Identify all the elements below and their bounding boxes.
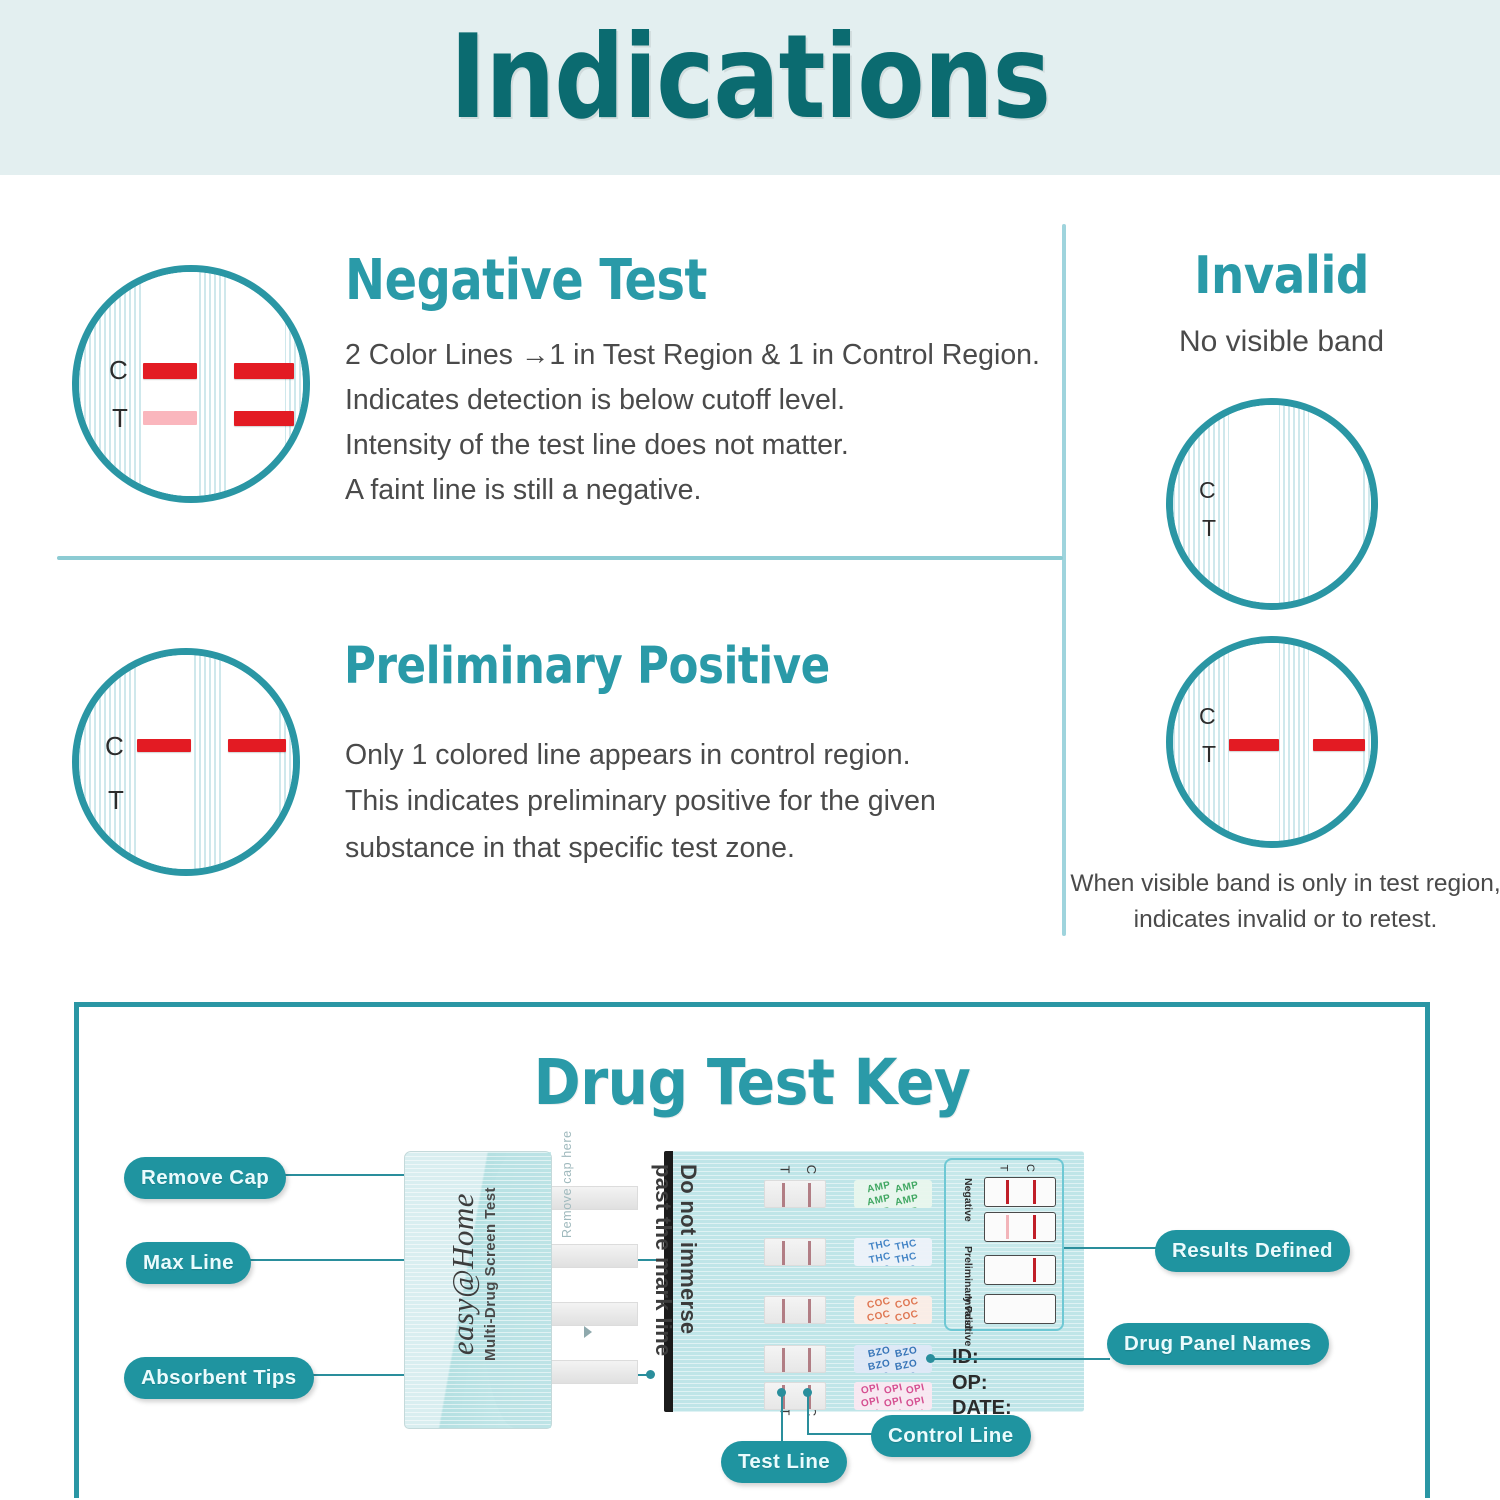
control-line-mark xyxy=(808,1183,811,1207)
negative-test-diagram: C T xyxy=(72,265,310,503)
page-title: Indications xyxy=(45,14,1455,142)
invalid-diagram-test-only: C T xyxy=(1166,636,1378,848)
immerse-warning-line-2: past the mark line xyxy=(651,1164,676,1404)
leader-line-control-line-v xyxy=(807,1392,809,1434)
leader-line-results-defined xyxy=(1064,1247,1156,1249)
prelim-line-3: substance in that specific test zone. xyxy=(345,825,936,871)
test-band-right xyxy=(234,411,294,426)
control-band-left xyxy=(137,739,191,752)
legend-cell-negative-strong xyxy=(984,1177,1056,1207)
control-label: C xyxy=(105,731,124,762)
results-legend-box: T C Negative Preliminary Positive Invali… xyxy=(944,1158,1064,1331)
test-line-mark xyxy=(782,1348,785,1372)
prelim-line-1: Only 1 colored line appears in control r… xyxy=(345,732,936,778)
strip-test-mark: T xyxy=(777,1166,792,1174)
callout-absorbent-tips[interactable]: Absorbent Tips xyxy=(124,1357,314,1399)
brand-subtitle: Multi-Drug Screen Test xyxy=(482,1144,499,1404)
leader-dot-drug-panel-names xyxy=(926,1354,935,1363)
legend-test-band xyxy=(1006,1180,1009,1204)
test-label: T xyxy=(108,785,124,816)
field-op: OP: xyxy=(952,1371,1012,1397)
control-line-mark xyxy=(808,1299,811,1323)
test-line-mark xyxy=(782,1299,785,1323)
strip-window-right xyxy=(229,272,285,503)
control-band-right xyxy=(228,739,286,752)
strip-window-left xyxy=(137,655,191,876)
strip-window-right xyxy=(223,655,279,876)
legend-cell-invalid xyxy=(984,1294,1056,1324)
strip-window-left xyxy=(143,272,197,503)
legend-label-invalid: Invalid xyxy=(962,1296,974,1329)
negative-line-1: 2 Color Lines →1 in Test Region & 1 in C… xyxy=(345,333,1040,378)
negative-test-title: Negative Test xyxy=(345,248,707,313)
callout-results-defined[interactable]: Results Defined xyxy=(1155,1230,1350,1272)
brand-name: easy@Home xyxy=(445,1193,480,1355)
absorbent-tip xyxy=(548,1302,638,1326)
control-label: C xyxy=(1199,703,1216,730)
cap-arrow-icon xyxy=(584,1326,592,1338)
drug-panel-chip-thc: THCTHCTHCTHCTHCTHCTHCTHCTHCTHC xyxy=(854,1238,932,1266)
immerse-warning: Do not immerse past the mark line xyxy=(651,1164,700,1404)
legend-label-negative: Negative xyxy=(962,1178,974,1222)
negative-line-2: Indicates detection is below cutoff leve… xyxy=(345,378,1040,423)
legend-test-band-faint xyxy=(1006,1215,1009,1239)
negative-test-body: 2 Color Lines →1 in Test Region & 1 in C… xyxy=(345,333,1040,513)
callout-test-line[interactable]: Test Line xyxy=(721,1441,847,1483)
legend-test-mark: T xyxy=(997,1165,1009,1172)
invalid-title: Invalid xyxy=(1063,246,1500,306)
test-label: T xyxy=(1202,741,1216,768)
test-band-left-faint xyxy=(143,411,197,425)
control-band-right xyxy=(234,363,294,379)
legend-control-mark: C xyxy=(1024,1164,1036,1172)
preliminary-positive-diagram: C T xyxy=(72,648,300,876)
invalid-note-line-2: indicates invalid or to retest. xyxy=(1063,902,1500,938)
test-strip-row xyxy=(764,1382,826,1410)
control-band-left xyxy=(143,363,197,379)
negative-line-4: A faint line is still a negative. xyxy=(345,468,1040,513)
absorbent-tip xyxy=(548,1244,638,1268)
test-label: T xyxy=(1202,515,1216,542)
callout-drug-panel-names[interactable]: Drug Panel Names xyxy=(1107,1323,1329,1365)
callout-remove-cap[interactable]: Remove Cap xyxy=(124,1157,286,1199)
callout-max-line[interactable]: Max Line xyxy=(126,1242,251,1284)
drug-panel-chip-amp: AMPAMPAMPAMPAMPAMPAMPAMPAMPAMP xyxy=(854,1180,932,1208)
invalid-note-line-1: When visible band is only in test region… xyxy=(1063,866,1500,902)
leader-dot-test-line xyxy=(777,1388,786,1397)
legend-control-band xyxy=(1033,1215,1036,1239)
control-line-mark xyxy=(808,1241,811,1265)
test-band-left xyxy=(1229,739,1279,751)
drug-panel-chip-bzo: BZOBZOBZOBZOBZOBZOBZOBZOBZOBZO xyxy=(854,1345,932,1373)
negative-line-3: Intensity of the test line does not matt… xyxy=(345,423,1040,468)
test-strip-row xyxy=(764,1180,826,1208)
legend-control-band xyxy=(1033,1258,1036,1282)
cap-hint-text: Remove cap here xyxy=(560,1130,574,1238)
drug-test-key-title: Drug Test Key xyxy=(74,1046,1430,1119)
test-strip-row xyxy=(764,1238,826,1266)
device-cap: easy@Home Multi-Drug Screen Test xyxy=(404,1151,552,1429)
prelim-line-2: This indicates preliminary positive for … xyxy=(345,778,936,824)
invalid-subtitle: No visible band xyxy=(1063,325,1500,359)
legend-control-band xyxy=(1033,1180,1036,1204)
test-strip-row xyxy=(764,1296,826,1324)
immerse-warning-line-1: Do not immerse xyxy=(675,1164,700,1404)
leader-dot-control-line xyxy=(803,1388,812,1397)
test-line-mark xyxy=(782,1241,785,1265)
control-label: C xyxy=(1199,477,1216,504)
preliminary-positive-body: Only 1 colored line appears in control r… xyxy=(345,732,936,871)
legend-cell-preliminary-positive xyxy=(984,1255,1056,1285)
callout-control-line[interactable]: Control Line xyxy=(871,1415,1031,1457)
brand-logo: easy@Home Multi-Drug Screen Test xyxy=(445,1144,499,1404)
preliminary-positive-title: Preliminary Positive xyxy=(344,637,830,696)
strip-control-mark: C xyxy=(804,1165,819,1174)
horizontal-divider xyxy=(57,556,1063,560)
control-line-mark xyxy=(808,1348,811,1372)
invalid-diagram-no-band: C T xyxy=(1166,398,1378,610)
test-label: T xyxy=(112,403,128,434)
test-strip-row xyxy=(764,1345,826,1373)
invalid-note: When visible band is only in test region… xyxy=(1063,866,1500,937)
drug-panel-chip-opi: OPIOPIOPIOPIOPIOPIOPIOPIOPIOPI xyxy=(854,1382,932,1410)
drug-panel-chip-coc: COCCOCCOCCOCCOCCOCCOCCOCCOCCOC xyxy=(854,1296,932,1324)
form-fields: ID: OP: DATE: xyxy=(952,1345,1012,1422)
strip-window-left xyxy=(1229,405,1279,610)
control-label: C xyxy=(109,355,128,386)
legend-cell-negative-faint xyxy=(984,1212,1056,1242)
test-line-mark xyxy=(782,1183,785,1207)
absorbent-tip xyxy=(548,1360,638,1384)
leader-line-drug-panel-names xyxy=(930,1358,1110,1360)
strip-window-right xyxy=(1309,405,1361,610)
test-band-right xyxy=(1313,739,1365,751)
